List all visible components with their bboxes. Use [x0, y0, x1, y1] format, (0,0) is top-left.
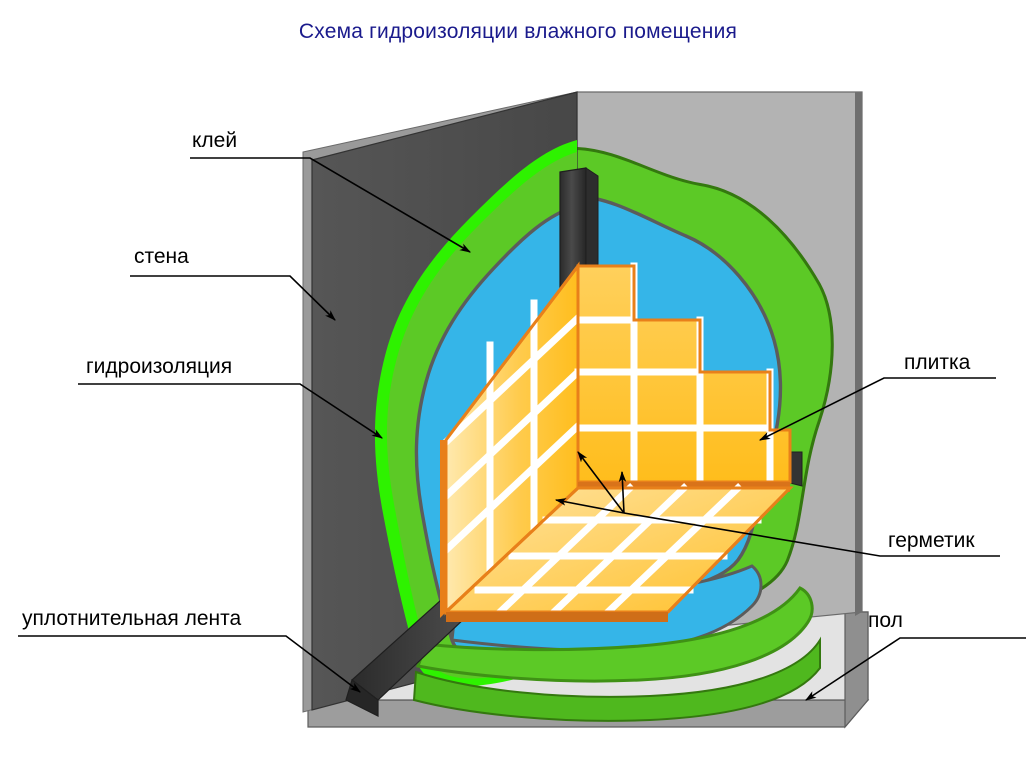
diagram-canvas: Схема гидроизоляции влажного помещения	[0, 0, 1036, 773]
diagram-illustration	[0, 0, 1036, 773]
label-sealant: герметик	[888, 530, 975, 551]
label-glue: клей	[192, 130, 237, 151]
label-waterproofing: гидроизоляция	[86, 356, 232, 377]
label-wall: стена	[134, 246, 189, 267]
label-tile: плитка	[904, 352, 970, 373]
label-floor: пол	[868, 610, 903, 631]
label-sealing-tape: уплотнительная лента	[22, 608, 241, 629]
